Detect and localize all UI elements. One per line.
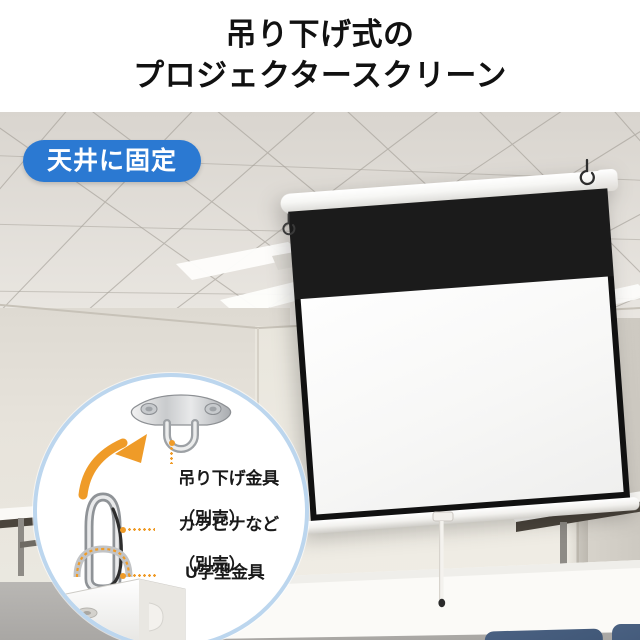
label-hanging-bracket-line1: 吊り下げ金具 xyxy=(178,469,279,488)
hardware-detail-inset: 吊り下げ金具 （別売） カラビナなど （別売） U字型金具 xyxy=(33,373,309,640)
hanging-bracket-drawing xyxy=(131,395,230,449)
title-line-1: 吊り下げ式の xyxy=(226,17,415,52)
inset-content: 吊り下げ金具 （別売） カラビナなど （別売） U字型金具 xyxy=(37,377,305,640)
carabiner-drawing xyxy=(89,497,121,589)
orange-arrow-icon xyxy=(83,434,147,495)
dot-node-u-bracket xyxy=(120,573,126,579)
page-title: 吊り下げ式の プロジェクタースクリーン xyxy=(0,14,640,96)
label-u-bracket: U字型金具 xyxy=(149,543,264,603)
badge-label: 天井に固定 xyxy=(47,149,177,174)
label-carabiner-line1: カラビナなど xyxy=(178,515,279,534)
header: 吊り下げ式の プロジェクタースクリーン xyxy=(0,0,640,112)
badge-ceiling-mount: 天井に固定 xyxy=(23,140,201,182)
label-u-bracket-line1: U字型金具 xyxy=(185,563,264,582)
dot-node-carabiner xyxy=(120,527,126,533)
title-line-2: プロジェクタースクリーン xyxy=(0,55,640,96)
product-image: 天井に固定 xyxy=(0,0,640,640)
